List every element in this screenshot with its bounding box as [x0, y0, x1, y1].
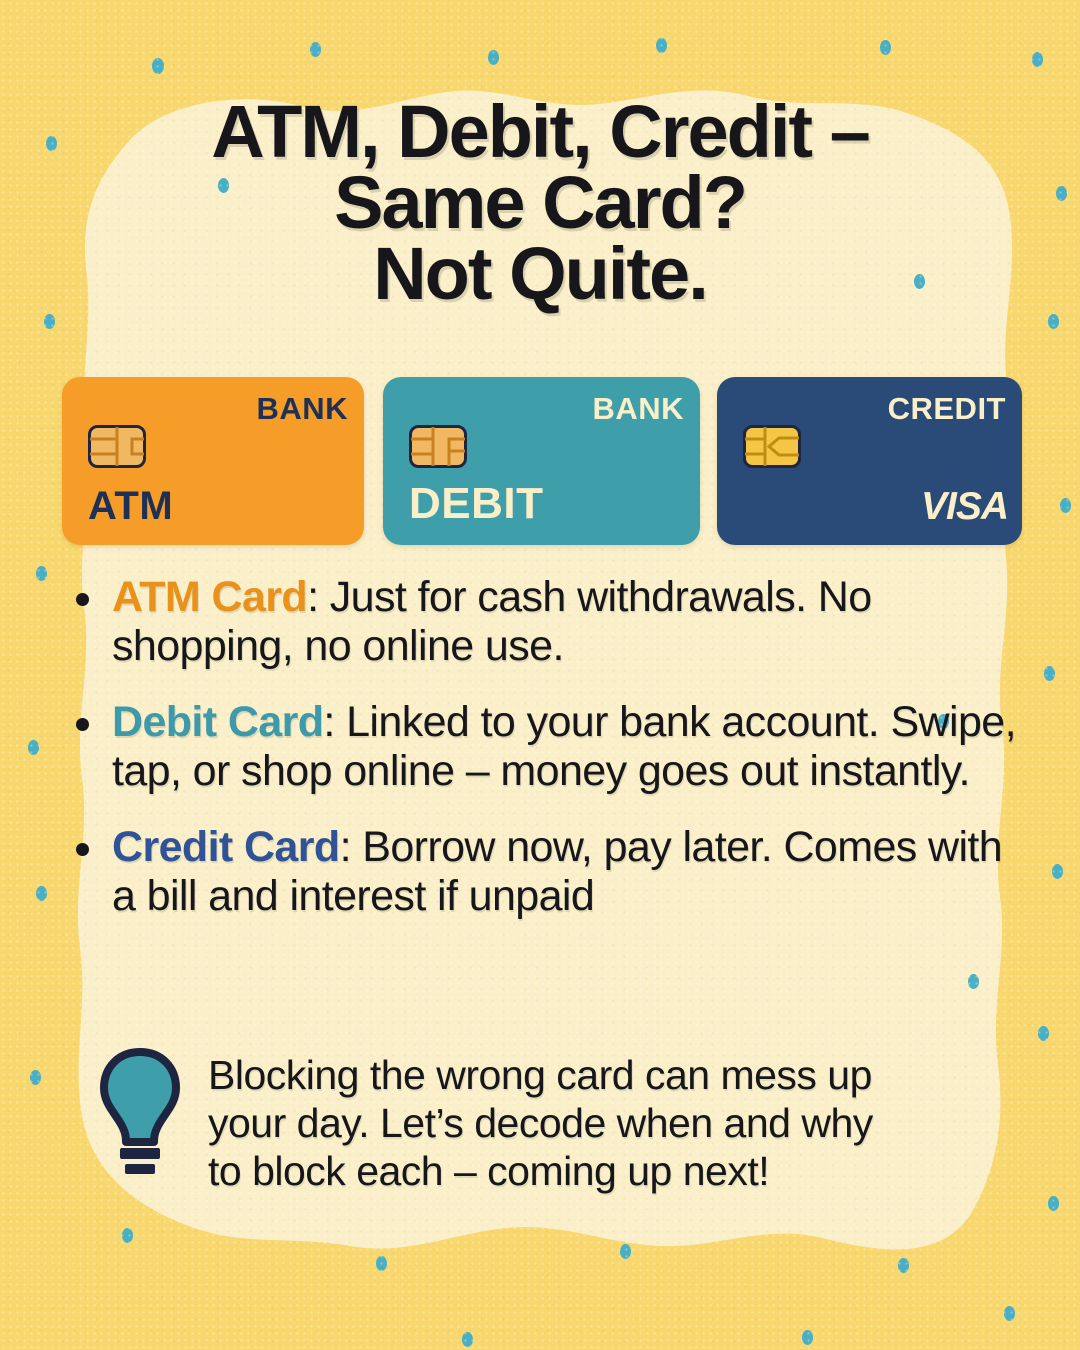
list-item: ATM Card: Just for cash withdrawals. No … [66, 573, 1032, 672]
bullet-marker-icon [76, 593, 89, 606]
note-line-2: your day. Let’s decode when and why [208, 1100, 873, 1148]
note-line-3: to block each – coming up next! [208, 1148, 873, 1196]
bullet-label-debit: Debit Card [112, 698, 323, 746]
card-debit: BANK DEBIT [383, 377, 700, 545]
card-row: BANK ATM BANK [62, 377, 1022, 545]
card-atm: BANK ATM [62, 377, 364, 545]
card-debit-brand: BANK [592, 391, 684, 427]
page-title: ATM, Debit, Credit – Same Card? Not Quit… [60, 96, 1020, 309]
lightbulb-icon [96, 1046, 184, 1174]
card-atm-brand: BANK [256, 391, 348, 427]
list-item: Credit Card: Borrow now, pay later. Come… [66, 823, 1032, 922]
emv-chip-icon [743, 425, 801, 468]
emv-chip-icon [409, 425, 467, 468]
note-line-1: Blocking the wrong card can mess up [208, 1052, 873, 1100]
footer-note-text: Blocking the wrong card can mess up your… [208, 1042, 873, 1196]
bullet-marker-icon [76, 843, 89, 856]
title-line-3: Not Quite. [60, 238, 1020, 309]
list-item: Debit Card: Linked to your bank account.… [66, 698, 1032, 797]
bullet-label-credit: Credit Card [112, 823, 340, 871]
bullet-marker-icon [76, 718, 89, 731]
card-credit-network: VISA [921, 485, 1008, 529]
emv-chip-icon [88, 425, 146, 468]
title-line-1: ATM, Debit, Credit – [60, 96, 1020, 167]
bullet-list: ATM Card: Just for cash withdrawals. No … [66, 573, 1032, 948]
card-atm-label: ATM [88, 484, 173, 529]
card-credit-brand: CREDIT [888, 391, 1006, 427]
card-credit: CREDIT VISA [717, 377, 1022, 545]
infographic-canvas: ATM, Debit, Credit – Same Card? Not Quit… [0, 0, 1080, 1350]
title-line-2: Same Card? [60, 167, 1020, 238]
card-debit-label: DEBIT [409, 479, 544, 529]
footer-note: Blocking the wrong card can mess up your… [96, 1042, 1016, 1196]
bullet-label-atm: ATM Card [112, 573, 307, 621]
